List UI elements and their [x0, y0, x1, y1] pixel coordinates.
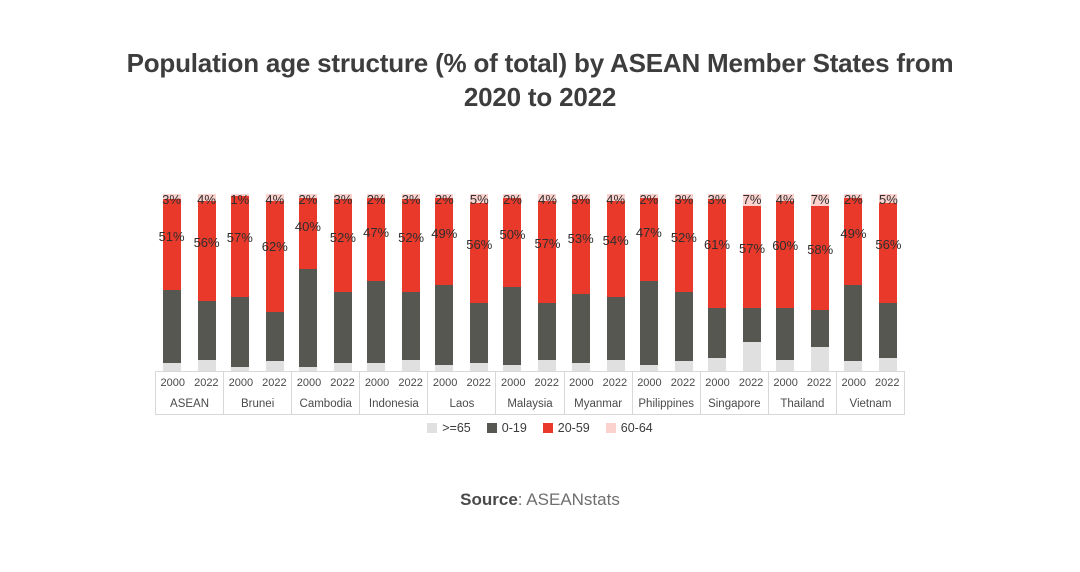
stacked-bar: [435, 194, 453, 372]
bar-segment-0-19: [470, 303, 488, 364]
axis-year-label: 2000: [705, 377, 729, 389]
axis-year-row: 20002022: [769, 372, 836, 393]
bar-thailand-2022[interactable]: 7%58%: [811, 180, 829, 372]
bar-label-2059: 62%: [262, 239, 288, 254]
bar-segment-0-19: [334, 292, 352, 363]
axis-group-vietnam: 20002022Vietnam: [837, 372, 904, 414]
axis-category-label: Myanmar: [565, 393, 632, 414]
axis-year-label: 2022: [671, 377, 695, 389]
axis-group-malaysia: 20002022Malaysia: [496, 372, 564, 414]
legend-label: >=65: [442, 421, 471, 435]
bar-group-laos: 2%49%5%56%: [428, 180, 496, 372]
axis-category-label: ASEAN: [156, 393, 223, 414]
bar-label-2059: 50%: [499, 227, 525, 242]
bar-label-2059: 60%: [772, 238, 798, 253]
bar-label-2059: 53%: [568, 231, 594, 246]
axis-year-label: 2022: [535, 377, 559, 389]
axis-year-label: 2022: [739, 377, 763, 389]
bar-singapore-2000[interactable]: 3%61%: [708, 180, 726, 372]
bar-group-indonesia: 2%47%3%52%: [360, 180, 428, 372]
chart-plot-area: 3%51%4%56%1%57%4%62%2%40%3%52%2%47%3%52%…: [155, 180, 905, 372]
bar-label-2059: 58%: [807, 242, 833, 257]
bar-segment-0-19: [231, 297, 249, 366]
axis-category-label: Thailand: [769, 393, 836, 414]
bar-segment-20-59: [334, 199, 352, 292]
axis-group-myanmar: 20002022Myanmar: [565, 372, 633, 414]
bar-segment-20-59: [538, 201, 556, 302]
axis-year-label: 2000: [569, 377, 593, 389]
bar-segment-0-19: [640, 281, 658, 365]
axis-year-label: 2022: [807, 377, 831, 389]
axis-group-cambodia: 20002022Cambodia: [292, 372, 360, 414]
bar-label-6064: 3%: [674, 192, 693, 207]
bar-asean-2000[interactable]: 3%51%: [163, 180, 181, 372]
bar-segment-20-59: [198, 201, 216, 301]
axis-year-row: 20002022: [565, 372, 632, 393]
bar-label-2059: 51%: [159, 229, 185, 244]
legend-swatch-icon: [606, 423, 616, 433]
axis-year-row: 20002022: [837, 372, 904, 393]
axis-group-asean: 20002022ASEAN: [156, 372, 224, 414]
bar-label-6064: 1%: [230, 192, 249, 207]
stacked-bar: [675, 194, 693, 372]
bar-segment-0-19: [879, 303, 897, 358]
stacked-bar: [572, 194, 590, 372]
bar-singapore-2022[interactable]: 7%57%: [743, 180, 761, 372]
legend-label: 60-64: [621, 421, 653, 435]
legend-item-0-19[interactable]: 0-19: [487, 421, 527, 435]
axis-year-label: 2022: [875, 377, 899, 389]
bar-segment-20-59: [470, 203, 488, 303]
stacked-bar: [470, 194, 488, 372]
bar-label-2059: 52%: [671, 230, 697, 245]
bar-laos-2022[interactable]: 5%56%: [470, 180, 488, 372]
bar-label-6064: 2%: [435, 192, 454, 207]
bar-segment-20-59: [844, 198, 862, 285]
bar-segment-0-19: [776, 308, 794, 360]
bar-label-6064: 2%: [299, 192, 318, 207]
axis-year-row: 20002022: [360, 372, 427, 393]
stacked-bar: [879, 194, 897, 372]
bar-label-2059: 49%: [431, 226, 457, 241]
stacked-bar: [163, 194, 181, 372]
stacked-bar: [334, 194, 352, 372]
bar-segment-20-59: [231, 196, 249, 297]
chart-x-axis: 20002022ASEAN20002022Brunei20002022Cambo…: [155, 371, 905, 415]
bar-label-6064: 7%: [811, 192, 830, 207]
bar-segment-0-19: [811, 310, 829, 347]
source-prefix: Source: [460, 490, 518, 509]
bar-brunei-2022[interactable]: 4%62%: [266, 180, 284, 372]
bar-indonesia-2022[interactable]: 3%52%: [402, 180, 420, 372]
bar-segment-0-19: [198, 301, 216, 360]
bar-label-2059: 56%: [466, 237, 492, 252]
axis-year-label: 2000: [297, 377, 321, 389]
stacked-bar: [231, 194, 249, 372]
axis-group-indonesia: 20002022Indonesia: [360, 372, 428, 414]
bar-segment-20-59: [503, 198, 521, 287]
bar-segment-0-19: [299, 269, 317, 367]
bar-label-6064: 4%: [197, 192, 216, 207]
bar-myanmar-2000[interactable]: 3%53%: [572, 180, 590, 372]
bar-philippines-2000[interactable]: 2%47%: [640, 180, 658, 372]
axis-year-label: 2000: [161, 377, 185, 389]
bar-segment-0-19: [844, 285, 862, 362]
bar-label-6064: 4%: [776, 192, 795, 207]
axis-year-label: 2022: [262, 377, 286, 389]
bar-label-6064: 3%: [571, 192, 590, 207]
bar-segment-20-59: [675, 199, 693, 292]
bar-segment-0-19: [743, 308, 761, 342]
bar-segment-gege65: [708, 358, 726, 372]
bar-segment-0-19: [163, 290, 181, 363]
bar-cambodia-2022[interactable]: 3%52%: [334, 180, 352, 372]
stacked-bar: [844, 194, 862, 372]
bar-label-2059: 47%: [363, 225, 389, 240]
bar-segment-20-59: [607, 201, 625, 297]
bar-segment-20-59: [572, 199, 590, 293]
bar-segment-0-19: [402, 292, 420, 360]
axis-year-label: 2022: [603, 377, 627, 389]
axis-year-label: 2022: [466, 377, 490, 389]
axis-category-label: Philippines: [633, 393, 700, 414]
legend-label: 0-19: [502, 421, 527, 435]
bar-label-2059: 56%: [194, 235, 220, 250]
bar-segment-0-19: [503, 287, 521, 365]
bar-label-6064: 4%: [538, 192, 557, 207]
bar-malaysia-2000[interactable]: 2%50%: [503, 180, 521, 372]
bar-group-vietnam: 2%49%5%56%: [837, 180, 905, 372]
bar-segment-0-19: [435, 285, 453, 365]
bar-cambodia-2000[interactable]: 2%40%: [299, 180, 317, 372]
axis-year-label: 2000: [229, 377, 253, 389]
axis-year-row: 20002022: [224, 372, 291, 393]
bar-malaysia-2022[interactable]: 4%57%: [538, 180, 556, 372]
axis-category-label: Indonesia: [360, 393, 427, 414]
bar-segment-gege65: [811, 347, 829, 372]
axis-year-row: 20002022: [428, 372, 495, 393]
bar-vietnam-2022[interactable]: 5%56%: [879, 180, 897, 372]
bar-segment-20-59: [708, 199, 726, 308]
bar-segment-20-59: [402, 199, 420, 292]
bar-laos-2000[interactable]: 2%49%: [435, 180, 453, 372]
axis-category-label: Vietnam: [837, 393, 904, 414]
bar-vietnam-2000[interactable]: 2%49%: [844, 180, 862, 372]
bar-segment-0-19: [675, 292, 693, 361]
axis-year-row: 20002022: [156, 372, 223, 393]
bar-label-2059: 52%: [330, 230, 356, 245]
bar-segment-20-59: [435, 198, 453, 285]
axis-category-label: Malaysia: [496, 393, 563, 414]
axis-category-label: Singapore: [701, 393, 768, 414]
bar-label-6064: 5%: [470, 192, 489, 207]
bar-segment-0-19: [572, 294, 590, 363]
axis-category-label: Laos: [428, 393, 495, 414]
stacked-bar: [607, 194, 625, 372]
bar-segment-gege65: [879, 358, 897, 372]
axis-year-label: 2000: [841, 377, 865, 389]
bar-segment-20-59: [266, 201, 284, 311]
bar-group-brunei: 1%57%4%62%: [223, 180, 291, 372]
bar-segment-20-59: [811, 206, 829, 309]
axis-year-row: 20002022: [701, 372, 768, 393]
bar-label-2059: 61%: [704, 237, 730, 252]
bar-label-2059: 40%: [295, 219, 321, 234]
bar-segment-20-59: [163, 199, 181, 290]
axis-group-philippines: 20002022Philippines: [633, 372, 701, 414]
legend-label: 20-59: [558, 421, 590, 435]
stacked-bar: [198, 194, 216, 372]
axis-group-singapore: 20002022Singapore: [701, 372, 769, 414]
bar-group-singapore: 3%61%7%57%: [700, 180, 768, 372]
stacked-bar: [402, 194, 420, 372]
legend-swatch-icon: [487, 423, 497, 433]
bar-group-malaysia: 2%50%4%57%: [496, 180, 564, 372]
bar-segment-gege65: [743, 342, 761, 372]
chart-legend: >=650-1920-5960-64: [0, 421, 1080, 435]
axis-year-label: 2022: [398, 377, 422, 389]
bar-label-2059: 54%: [603, 233, 629, 248]
bar-indonesia-2000[interactable]: 2%47%: [367, 180, 385, 372]
bar-label-2059: 57%: [534, 236, 560, 251]
bar-segment-0-19: [266, 312, 284, 362]
legend-swatch-icon: [427, 423, 437, 433]
bar-label-2059: 52%: [398, 230, 424, 245]
bar-segment-0-19: [538, 303, 556, 360]
stacked-bar: [811, 194, 829, 372]
bar-label-6064: 2%: [503, 192, 522, 207]
axis-group-laos: 20002022Laos: [428, 372, 496, 414]
bar-label-2059: 56%: [875, 237, 901, 252]
stacked-bar: [503, 194, 521, 372]
bar-label-6064: 2%: [639, 192, 658, 207]
bar-philippines-2022[interactable]: 3%52%: [675, 180, 693, 372]
bar-segment-0-19: [367, 281, 385, 363]
stacked-bar: [367, 194, 385, 372]
stacked-bar: [266, 194, 284, 372]
bar-label-6064: 5%: [879, 192, 898, 207]
axis-category-label: Brunei: [224, 393, 291, 414]
stacked-bar: [640, 194, 658, 372]
bar-label-6064: 3%: [708, 192, 727, 207]
axis-year-label: 2022: [330, 377, 354, 389]
bar-label-2059: 57%: [227, 230, 253, 245]
axis-year-label: 2000: [501, 377, 525, 389]
bar-label-6064: 3%: [334, 192, 353, 207]
bar-segment-20-59: [776, 201, 794, 308]
axis-group-brunei: 20002022Brunei: [224, 372, 292, 414]
axis-year-row: 20002022: [292, 372, 359, 393]
bar-group-cambodia: 2%40%3%52%: [291, 180, 359, 372]
bar-label-2059: 49%: [840, 226, 866, 241]
legend-item-60-64[interactable]: 60-64: [606, 421, 653, 435]
bar-group-thailand: 4%60%7%58%: [769, 180, 837, 372]
bar-brunei-2000[interactable]: 1%57%: [231, 180, 249, 372]
bar-segment-20-59: [743, 206, 761, 307]
axis-category-label: Cambodia: [292, 393, 359, 414]
bar-segment-20-59: [879, 203, 897, 303]
axis-group-thailand: 20002022Thailand: [769, 372, 837, 414]
bar-segment-0-19: [708, 308, 726, 358]
bar-myanmar-2022[interactable]: 4%54%: [607, 180, 625, 372]
axis-year-label: 2000: [637, 377, 661, 389]
bar-label-2059: 57%: [739, 241, 765, 256]
bar-segment-0-19: [607, 297, 625, 359]
legend-item-gege65[interactable]: >=65: [427, 421, 471, 435]
bar-group-myanmar: 3%53%4%54%: [564, 180, 632, 372]
bar-group-asean: 3%51%4%56%: [155, 180, 223, 372]
stacked-bar: [776, 194, 794, 372]
bar-label-6064: 2%: [844, 192, 863, 207]
source-note: Source: ASEANstats: [0, 490, 1080, 510]
axis-year-label: 2000: [773, 377, 797, 389]
stacked-bar: [743, 194, 761, 372]
axis-year-row: 20002022: [496, 372, 563, 393]
bar-label-6064: 2%: [367, 192, 386, 207]
bar-label-6064: 3%: [402, 192, 421, 207]
bar-label-6064: 3%: [162, 192, 181, 207]
legend-swatch-icon: [543, 423, 553, 433]
page-title: Population age structure (% of total) by…: [0, 46, 1080, 115]
legend-item-20-59[interactable]: 20-59: [543, 421, 590, 435]
bar-label-6064: 4%: [265, 192, 284, 207]
bar-label-6064: 4%: [606, 192, 625, 207]
axis-year-label: 2022: [194, 377, 218, 389]
source-value: ASEANstats: [526, 490, 620, 509]
bar-label-2059: 47%: [636, 225, 662, 240]
bar-label-6064: 7%: [743, 192, 762, 207]
stacked-bar: [708, 194, 726, 372]
stacked-bar: [538, 194, 556, 372]
bar-asean-2022[interactable]: 4%56%: [198, 180, 216, 372]
axis-year-label: 2000: [365, 377, 389, 389]
axis-year-label: 2000: [433, 377, 457, 389]
bar-group-philippines: 2%47%3%52%: [632, 180, 700, 372]
axis-year-row: 20002022: [633, 372, 700, 393]
bar-thailand-2000[interactable]: 4%60%: [776, 180, 794, 372]
